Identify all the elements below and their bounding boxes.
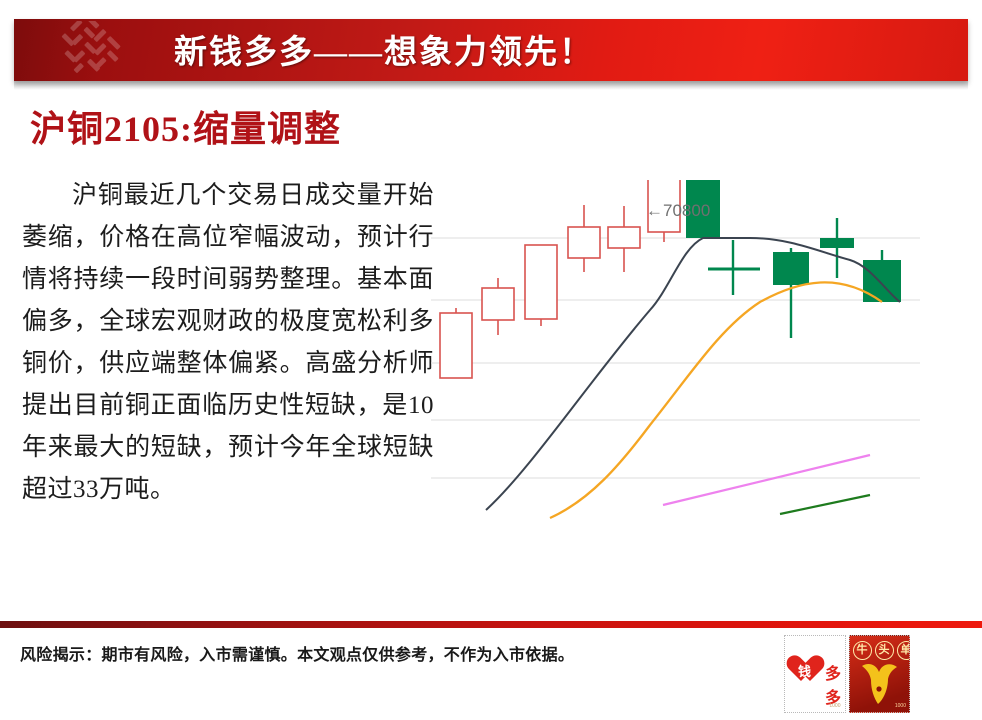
stamp-left-caption: 1000 [829,703,840,709]
chart-svg: ←70800 [420,180,965,540]
risk-disclaimer: 风险揭示：期市有风险，入市需谨慎。本文观点仅供参考，不作为入市依据。 [20,641,574,665]
bull-char-row: 牛 头 单 [853,641,911,660]
stamp-heart-char: 钱 [798,661,811,680]
price-annotation-label: ←70800 [646,201,710,220]
bull-head-icon [858,660,902,705]
price-annotation: ←70800 [646,201,710,220]
bull-char-0: 牛 [853,641,872,660]
stamp-qianduoduo: 钱 多多 1000 [784,635,846,713]
candlestick-chart: ←70800 [420,180,965,540]
chart-gridlines [431,238,920,478]
candle-series-green [686,180,901,338]
header-title: 新钱多多——想象力领先！ [174,25,594,73]
ma-long-line [550,282,882,518]
stamp-niutoudan: 牛 头 单 1000 [849,635,911,713]
candle-series-red [440,180,680,378]
slide-root: 新钱多多——想象力领先！ 沪铜2105:缩量调整 沪铜最近几个交易日成交量开始萎… [0,0,982,720]
body-paragraph: 沪铜最近几个交易日成交量开始萎缩，价格在高位窄幅波动，预计行情将持续一段时间弱势… [22,175,434,511]
bull-char-1: 头 [875,641,894,660]
header-banner: 新钱多多——想象力领先！ [14,19,968,81]
header-shadow [14,81,968,90]
diamond-lattice-icon [30,21,148,79]
indicator-violet-line [663,455,870,505]
footer-divider [0,621,982,628]
indicator-green-line [780,495,870,514]
stamp-left-text: 多多 [825,660,845,708]
bull-char-2: 单 [897,641,911,660]
stamp-right-caption: 1000 [895,703,906,709]
footer-stamp-group: 钱 多多 1000 牛 头 单 1000 [784,635,910,713]
page-title: 沪铜2105:缩量调整 [30,100,341,152]
